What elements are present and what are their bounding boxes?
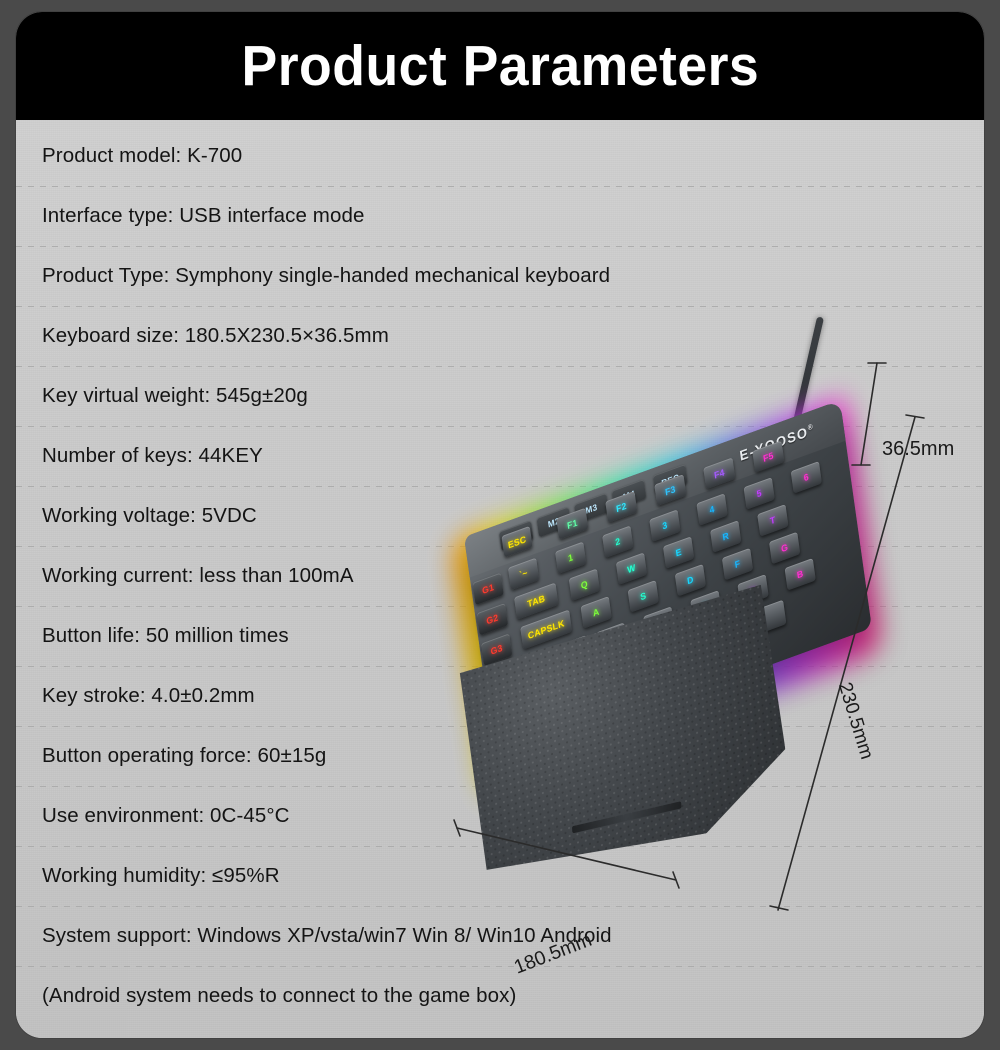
spec-text: Interface type: USB interface mode — [42, 204, 364, 228]
spec-text: Number of keys: 44KEY — [42, 444, 263, 468]
spec-row: Keyboard size: 180.5X230.5×36.5mm — [16, 306, 984, 366]
spec-text: Working current: less than 100mA — [42, 564, 354, 588]
spec-list: Product model: K-700Interface type: USB … — [16, 120, 984, 1038]
spec-row: Product model: K-700 — [16, 126, 984, 186]
row-divider — [16, 606, 984, 607]
spec-card: Product Parameters M1 M2 M3 M4 REC — [16, 12, 984, 1038]
row-divider — [16, 426, 984, 427]
spec-text: System support: Windows XP/vsta/win7 Win… — [42, 924, 612, 948]
spec-row: Button operating force: 60±15g — [16, 726, 984, 786]
row-divider — [16, 186, 984, 187]
spec-row: Key virtual weight: 545g±20g — [16, 366, 984, 426]
spec-row: Interface type: USB interface mode — [16, 186, 984, 246]
spec-text: Key stroke: 4.0±0.2mm — [42, 684, 255, 708]
row-divider — [16, 966, 984, 967]
row-divider — [16, 786, 984, 787]
page-title: Product Parameters — [241, 33, 759, 99]
spec-text: (Android system needs to connect to the … — [42, 984, 516, 1008]
row-divider — [16, 366, 984, 367]
spec-row: Product Type: Symphony single-handed mec… — [16, 246, 984, 306]
spec-text: Use environment: 0C-45°C — [42, 804, 290, 828]
row-divider — [16, 906, 984, 907]
spec-text: Key virtual weight: 545g±20g — [42, 384, 308, 408]
product-parameters-page: Product Parameters M1 M2 M3 M4 REC — [0, 0, 1000, 1050]
row-divider — [16, 246, 984, 247]
spec-row: System support: Windows XP/vsta/win7 Win… — [16, 906, 984, 966]
spec-text: Button operating force: 60±15g — [42, 744, 326, 768]
row-divider — [16, 546, 984, 547]
spec-text: Working humidity: ≤95%R — [42, 864, 280, 888]
spec-text: Product model: K-700 — [42, 144, 242, 168]
spec-row: Working voltage: 5VDC — [16, 486, 984, 546]
spec-row: Use environment: 0C-45°C — [16, 786, 984, 846]
row-divider — [16, 486, 984, 487]
row-divider — [16, 726, 984, 727]
row-divider — [16, 846, 984, 847]
spec-row: Number of keys: 44KEY — [16, 426, 984, 486]
spec-text: Working voltage: 5VDC — [42, 504, 257, 528]
spec-row: Button life: 50 million times — [16, 606, 984, 666]
spec-text: Keyboard size: 180.5X230.5×36.5mm — [42, 324, 389, 348]
row-divider — [16, 306, 984, 307]
spec-row: Working humidity: ≤95%R — [16, 846, 984, 906]
spec-text: Product Type: Symphony single-handed mec… — [42, 264, 610, 288]
row-divider — [16, 666, 984, 667]
spec-row: (Android system needs to connect to the … — [16, 966, 984, 1026]
header-banner: Product Parameters — [16, 12, 984, 120]
spec-body: M1 M2 M3 M4 REC E-YOOSO® G1 G2 G3 — [16, 120, 984, 1038]
spec-row: Key stroke: 4.0±0.2mm — [16, 666, 984, 726]
spec-row: Working current: less than 100mA — [16, 546, 984, 606]
spec-text: Button life: 50 million times — [42, 624, 289, 648]
